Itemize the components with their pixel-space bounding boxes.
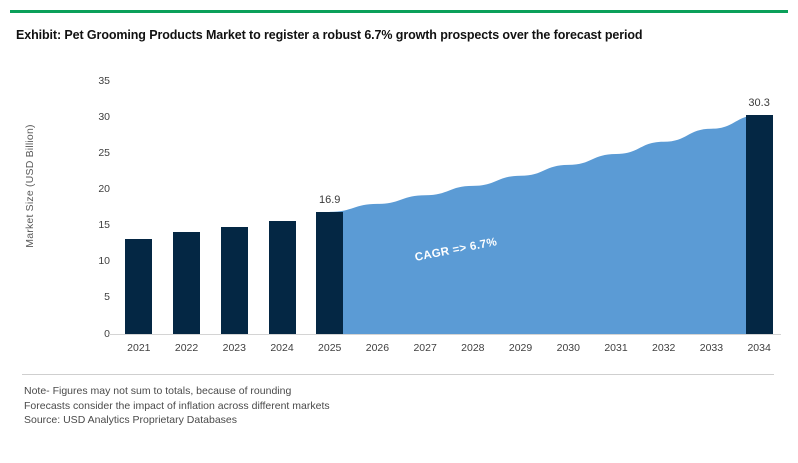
bar-2023[interactable] — [221, 227, 248, 334]
x-axis-labels: 2021202220232024202520262027202820292030… — [115, 342, 783, 366]
x-label-2033: 2033 — [700, 342, 723, 354]
plot-area: 16.9 30.3 CAGR => 6.7% — [115, 60, 783, 360]
data-label-2025: 16.9 — [319, 194, 340, 206]
x-label-2027: 2027 — [413, 342, 436, 354]
x-label-2031: 2031 — [604, 342, 627, 354]
x-label-2032: 2032 — [652, 342, 675, 354]
y-axis-title: Market Size (USD Billion) — [24, 96, 36, 276]
x-label-2034: 2034 — [747, 342, 770, 354]
bar-2021[interactable] — [125, 239, 152, 334]
note-line: Source: USD Analytics Proprietary Databa… — [24, 413, 764, 428]
y-tick-label: 35 — [84, 75, 110, 87]
x-label-2021: 2021 — [127, 342, 150, 354]
y-tick-label: 5 — [84, 291, 110, 303]
x-label-2028: 2028 — [461, 342, 484, 354]
footer-divider — [22, 374, 774, 375]
bar-2034[interactable] — [746, 115, 773, 334]
page-title: Exhibit: Pet Grooming Products Market to… — [16, 28, 786, 42]
y-tick-label: 30 — [84, 111, 110, 123]
bar-2022[interactable] — [173, 232, 200, 334]
forecast-area-series — [115, 60, 783, 360]
bar-2025[interactable] — [316, 212, 343, 334]
chart-canvas: Market Size (USD Billion) 0 5 10 15 20 2… — [0, 60, 798, 360]
x-label-2025: 2025 — [318, 342, 341, 354]
bar-2024[interactable] — [269, 221, 296, 334]
y-tick-label: 15 — [84, 219, 110, 231]
y-tick-label: 0 — [84, 328, 110, 340]
y-tick-label: 20 — [84, 183, 110, 195]
x-label-2023: 2023 — [223, 342, 246, 354]
x-label-2024: 2024 — [270, 342, 293, 354]
x-label-2030: 2030 — [557, 342, 580, 354]
chart-page: Exhibit: Pet Grooming Products Market to… — [0, 0, 798, 463]
x-label-2026: 2026 — [366, 342, 389, 354]
y-tick-label: 25 — [84, 147, 110, 159]
y-axis-ticks: 0 5 10 15 20 25 30 35 — [84, 60, 110, 360]
x-label-2029: 2029 — [509, 342, 532, 354]
x-label-2022: 2022 — [175, 342, 198, 354]
footnotes: Note- Figures may not sum to totals, bec… — [24, 384, 764, 428]
data-label-2034: 30.3 — [748, 97, 769, 109]
note-line: Note- Figures may not sum to totals, bec… — [24, 384, 764, 399]
top-accent-rule — [10, 10, 788, 13]
note-line: Forecasts consider the impact of inflati… — [24, 399, 764, 414]
y-tick-label: 10 — [84, 255, 110, 267]
